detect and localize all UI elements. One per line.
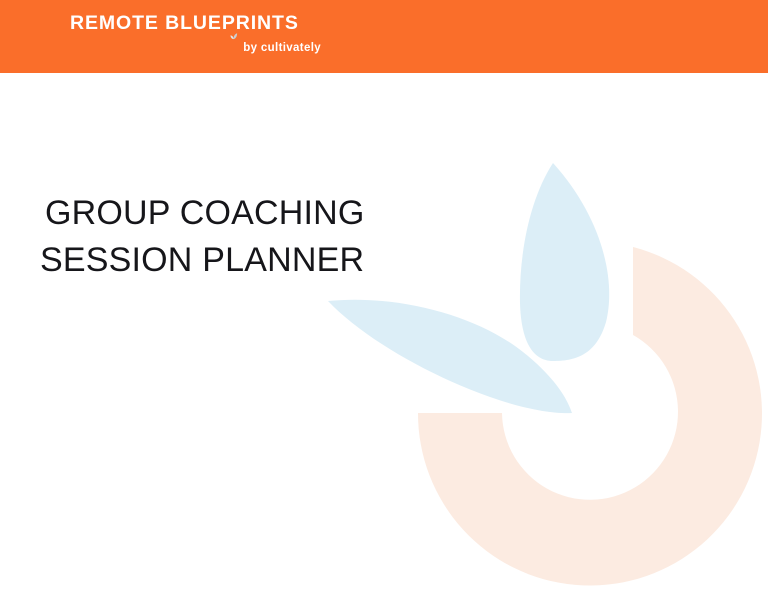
page-title: GROUP COACHING SESSION PLANNER [40, 190, 365, 284]
brand-lockup: REMOTE BLUEPRINTS by cultivately [70, 13, 322, 56]
brand-header-band: REMOTE BLUEPRINTS by cultivately [0, 0, 768, 73]
brand-subtitle: by cultivately [243, 42, 321, 54]
cover-page: REMOTE BLUEPRINTS by cultivately GROUP C… [0, 0, 768, 594]
brand-subtitle-wrap: by cultivately [70, 38, 322, 56]
page-title-line-2: SESSION PLANNER [40, 237, 365, 284]
brand-title: REMOTE BLUEPRINTS [70, 13, 322, 33]
page-title-line-1: GROUP COACHING [40, 190, 365, 237]
decorative-artwork [0, 0, 768, 594]
leaf-vertical-shape [520, 163, 609, 361]
